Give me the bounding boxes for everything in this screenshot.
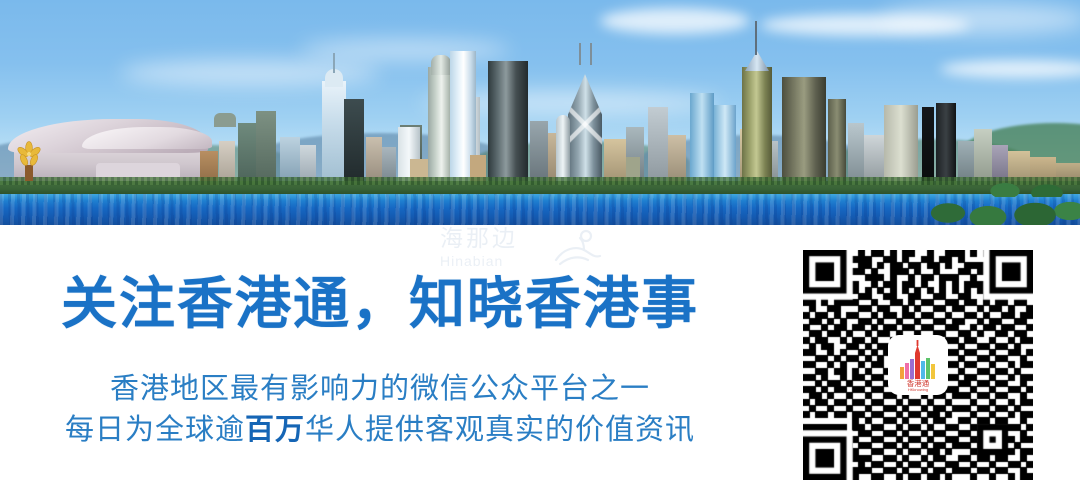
subtitle-line-2-emphasis: 百万	[245, 412, 305, 446]
foreground-foliage	[930, 173, 1080, 225]
watermark-english-text: Hinabian	[440, 253, 640, 269]
qr-code-block[interactable]: 香港通 HKknowing	[803, 250, 1033, 480]
qr-logo-en-text: HKknowing	[908, 387, 928, 392]
subtitle-block: 香港地区最有影响力的微信公众平台之一 每日为全球逾百万华人提供客观真实的价值资讯	[0, 368, 760, 450]
building-ifc-two-crown	[431, 55, 451, 75]
building-tower-spire-needle	[333, 53, 335, 73]
building-bank-of-china-mast	[590, 43, 592, 65]
building-block	[848, 123, 864, 185]
subtitle-line-2-post: 华人提供客观真实的价值资讯	[305, 412, 695, 446]
building-cheung-kong-center	[488, 61, 528, 185]
promo-banner-page: 海那边 Hinabian 关注香港通，知晓香港事 香港地区最有影响力的微信公众平…	[0, 0, 1080, 503]
hongkongtong-logo-icon: 香港通 HKknowing	[890, 337, 946, 393]
waterfront-tree-line	[0, 181, 1080, 195]
golden-bauhinia-statue-icon	[16, 139, 42, 181]
building-central-plaza-crown	[745, 51, 769, 71]
building-tower-conical	[214, 113, 236, 127]
building-round-tower	[556, 115, 570, 185]
subtitle-line-1: 香港地区最有影响力的微信公众平台之一	[0, 368, 760, 409]
skyline-banner-image	[0, 0, 1080, 225]
building-tower-spire	[322, 81, 346, 185]
building-block	[256, 111, 276, 185]
building-bank-of-china-mast	[579, 43, 581, 65]
victoria-harbour-water	[0, 194, 1080, 225]
swimmer-logo-icon	[550, 226, 606, 274]
promo-text-panel: 海那边 Hinabian 关注香港通，知晓香港事 香港地区最有影响力的微信公众平…	[0, 225, 1080, 503]
watermark-chinese-text: 海那边	[440, 228, 640, 251]
city-skyline	[0, 7, 1080, 187]
subtitle-line-2-pre: 每日为全球逾	[65, 412, 245, 446]
building-central-plaza-spire	[755, 21, 757, 55]
building-block	[648, 107, 668, 185]
building-grey-tall	[884, 105, 918, 185]
qr-center-logo: 香港通 HKknowing	[890, 337, 946, 393]
page-title: 关注香港通，知晓香港事	[0, 277, 760, 333]
building-dark-slab	[828, 99, 846, 185]
building-central-plaza	[742, 67, 772, 185]
building-block	[530, 121, 548, 185]
building-dark-slab	[782, 77, 826, 185]
building-blue-glass-tower	[714, 105, 736, 185]
building-blue-glass-tower	[690, 93, 714, 185]
building-block	[344, 99, 364, 185]
building-bank-of-china-lattice	[568, 59, 602, 185]
subtitle-line-2: 每日为全球逾百万华人提供客观真实的价值资讯	[0, 409, 760, 450]
